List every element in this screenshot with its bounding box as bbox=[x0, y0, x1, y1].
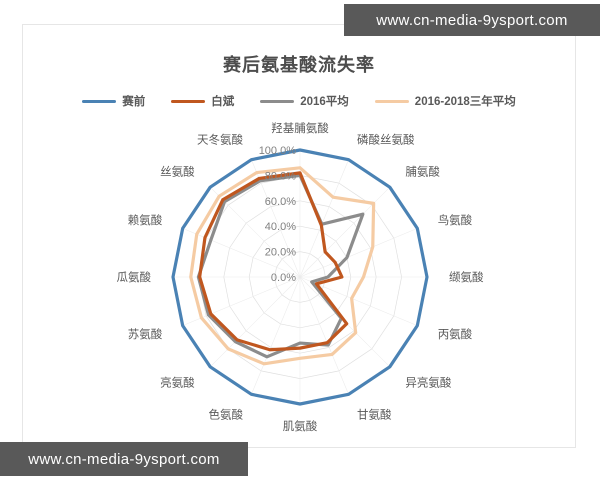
category-label-1: 磷酸丝氨酸 bbox=[357, 132, 415, 146]
legend-item-series-1[interactable]: 白斌 bbox=[171, 93, 234, 109]
category-label-0: 羟基脯氨酸 bbox=[271, 121, 329, 135]
spoke-2 bbox=[300, 187, 390, 277]
radial-tick-label-100: 100.0% bbox=[259, 145, 297, 157]
legend-label: 白斌 bbox=[211, 93, 234, 109]
category-label-2: 脯氨酸 bbox=[405, 165, 440, 179]
category-label-3: 鸟氨酸 bbox=[438, 213, 473, 227]
category-label-6: 异亮氨酸 bbox=[405, 375, 451, 389]
chart-frame: 赛后氨基酸流失率 赛前 白斌 2016平均 2016-2018三年平均 0.0%… bbox=[22, 24, 576, 448]
legend-swatch-icon bbox=[82, 100, 116, 103]
category-label-13: 赖氨酸 bbox=[128, 213, 163, 227]
category-label-7: 甘氨酸 bbox=[357, 408, 392, 422]
category-label-14: 丝氨酸 bbox=[160, 165, 195, 179]
category-label-9: 色氨酸 bbox=[209, 408, 244, 422]
spoke-9 bbox=[251, 277, 300, 394]
legend-label: 2016平均 bbox=[300, 93, 349, 109]
radial-tick-label-20: 20.0% bbox=[265, 247, 296, 259]
category-label-5: 丙氨酸 bbox=[438, 327, 473, 341]
chart-title: 赛后氨基酸流失率 bbox=[23, 51, 575, 77]
category-label-4: 缬氨酸 bbox=[449, 270, 484, 284]
legend-swatch-icon bbox=[375, 100, 409, 103]
category-label-8: 肌氨酸 bbox=[283, 419, 318, 433]
category-label-11: 苏氨酸 bbox=[128, 327, 163, 341]
spoke-3 bbox=[300, 228, 417, 277]
category-label-10: 亮氨酸 bbox=[160, 375, 195, 389]
category-label-15: 天冬氨酸 bbox=[197, 132, 243, 146]
legend-item-series-3[interactable]: 2016-2018三年平均 bbox=[375, 93, 516, 109]
legend-item-series-0[interactable]: 赛前 bbox=[82, 93, 145, 109]
watermark-bottom: www.cn-media-9ysport.com bbox=[0, 442, 248, 476]
legend-label: 赛前 bbox=[122, 93, 145, 109]
spoke-10 bbox=[210, 277, 300, 367]
radial-tick-label-40: 40.0% bbox=[265, 221, 296, 233]
category-label-12: 瓜氨酸 bbox=[117, 270, 152, 284]
chart-legend: 赛前 白斌 2016平均 2016-2018三年平均 bbox=[23, 93, 575, 109]
legend-item-series-2[interactable]: 2016平均 bbox=[260, 93, 349, 109]
watermark-top: www.cn-media-9ysport.com bbox=[344, 4, 600, 36]
radial-tick-label-0: 0.0% bbox=[271, 272, 296, 284]
legend-swatch-icon bbox=[260, 100, 294, 103]
radial-tick-label-60: 60.0% bbox=[265, 196, 296, 208]
radar-plot-area: 0.0%20.0%40.0%60.0%80.0%100.0% 羟基脯氨酸磷酸丝氨… bbox=[23, 117, 577, 447]
radar-radial-tick-labels: 0.0%20.0%40.0%60.0%80.0%100.0% bbox=[259, 145, 297, 284]
radial-tick-label-80: 80.0% bbox=[265, 170, 296, 182]
legend-label: 2016-2018三年平均 bbox=[415, 93, 516, 109]
legend-swatch-icon bbox=[171, 100, 205, 103]
